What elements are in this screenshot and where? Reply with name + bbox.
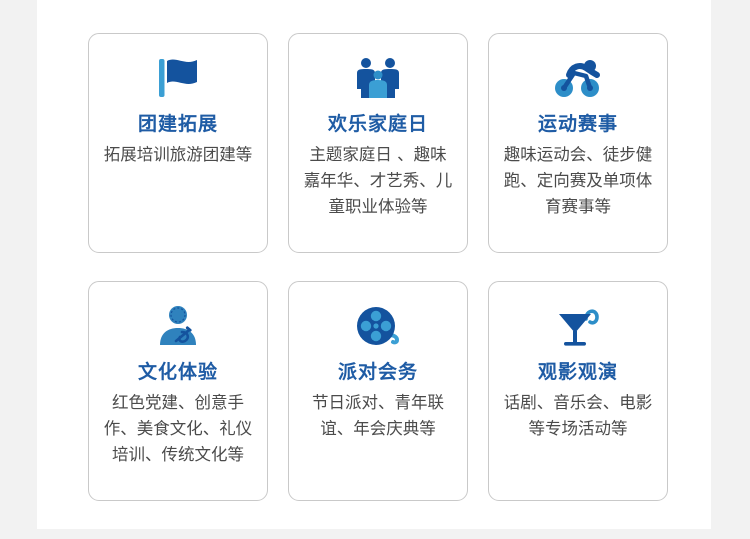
card-description: 趣味运动会、徒步健跑、定向赛及单项体育赛事等 <box>502 142 654 220</box>
cocktail-icon <box>549 300 607 352</box>
service-card-team-building[interactable]: 团建拓展 拓展培训旅游团建等 <box>88 33 268 253</box>
service-category-grid: 团建拓展 拓展培训旅游团建等 欢乐家庭日 主题家庭日 、趣味嘉年华、才艺 <box>88 33 668 501</box>
content-sheet: 团建拓展 拓展培训旅游团建等 欢乐家庭日 主题家庭日 、趣味嘉年华、才艺 <box>37 0 711 529</box>
service-card-film-performance[interactable]: 观影观演 话剧、音乐会、电影等专场活动等 <box>488 281 668 501</box>
card-description: 拓展培训旅游团建等 <box>102 142 254 168</box>
card-title: 观影观演 <box>538 358 618 386</box>
service-card-party-meeting[interactable]: 派对会务 节日派对、青年联谊、年会庆典等 <box>288 281 468 501</box>
card-description: 话剧、音乐会、电影等专场活动等 <box>502 390 654 442</box>
family-icon <box>349 52 407 104</box>
card-title: 团建拓展 <box>138 110 218 138</box>
card-description: 红色党建、创意手作、美食文化、礼仪培训、传统文化等 <box>102 390 254 468</box>
page-root: 团建拓展 拓展培训旅游团建等 欢乐家庭日 主题家庭日 、趣味嘉年华、才艺 <box>0 0 750 539</box>
card-title: 派对会务 <box>338 358 418 386</box>
flag-icon <box>149 52 207 104</box>
card-title: 欢乐家庭日 <box>328 110 428 138</box>
cyclist-icon <box>549 52 607 104</box>
card-description: 节日派对、青年联谊、年会庆典等 <box>302 390 454 442</box>
service-card-family-day[interactable]: 欢乐家庭日 主题家庭日 、趣味嘉年华、才艺秀、儿童职业体验等 <box>288 33 468 253</box>
card-title: 运动赛事 <box>538 110 618 138</box>
culture-person-icon <box>149 300 207 352</box>
card-description: 主题家庭日 、趣味嘉年华、才艺秀、儿童职业体验等 <box>302 142 454 220</box>
card-title: 文化体验 <box>138 358 218 386</box>
film-reel-icon <box>349 300 407 352</box>
service-card-sports-events[interactable]: 运动赛事 趣味运动会、徒步健跑、定向赛及单项体育赛事等 <box>488 33 668 253</box>
service-card-culture-experience[interactable]: 文化体验 红色党建、创意手作、美食文化、礼仪培训、传统文化等 <box>88 281 268 501</box>
